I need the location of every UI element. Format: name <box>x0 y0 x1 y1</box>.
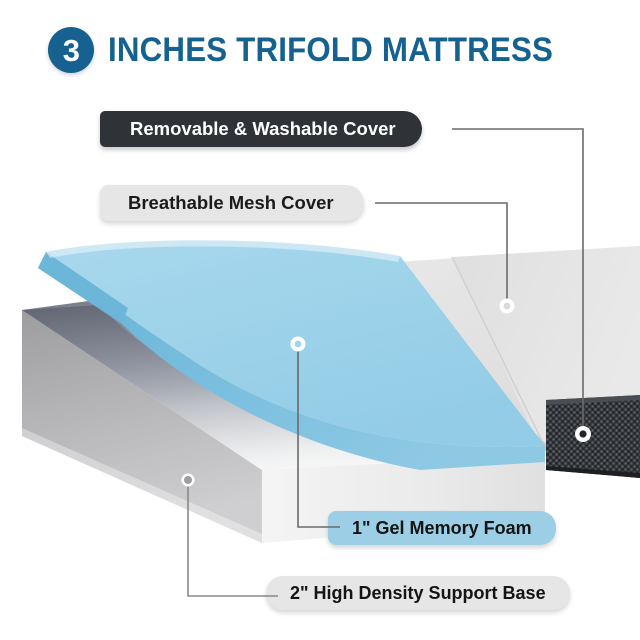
leader-line-gel-memory-foam <box>298 350 340 527</box>
callout-marker-removable-washable-cover <box>575 426 591 442</box>
leader-line-breathable-mesh-cover <box>375 203 507 300</box>
trifold-mattress-infographic: 3 INCHES TRIFOLD MATTRESS <box>0 0 640 640</box>
callout-marker-high-density-support-base <box>182 474 195 487</box>
leader-line-high-density-support-base <box>188 486 278 596</box>
callout-leader-lines <box>0 0 640 640</box>
callout-marker-gel-memory-foam <box>291 337 306 352</box>
leader-line-removable-washable-cover <box>452 129 583 428</box>
callout-marker-breathable-mesh-cover <box>500 299 515 314</box>
